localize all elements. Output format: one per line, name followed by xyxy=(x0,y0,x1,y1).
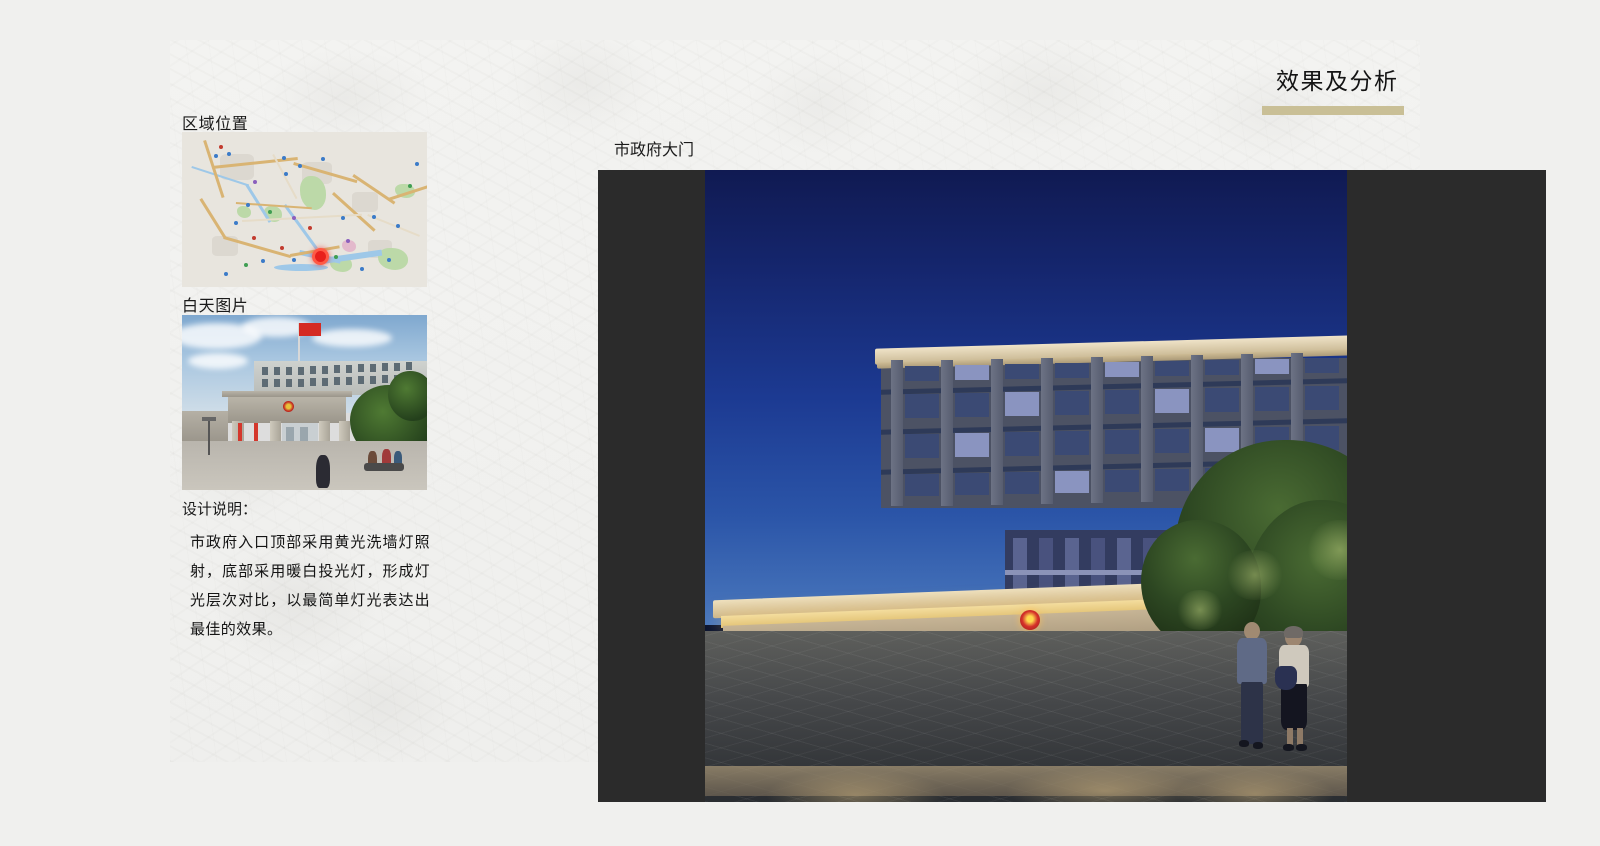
map-label: 区域位置 xyxy=(182,110,248,134)
render-frame[interactable]: 北流市国防动员委员会 北流市人民政府 常务委员会 xyxy=(598,170,1546,802)
design-note-body: 市政府入口顶部采用黄光洗墙灯照射，底部采用暖白投光灯，形成灯光层次对比，以最简单… xyxy=(190,528,430,644)
title-accent-rule xyxy=(1262,106,1404,115)
daytime-photo-label: 白天图片 xyxy=(182,292,248,316)
pedestrian-woman xyxy=(1277,628,1311,752)
national-emblem xyxy=(1020,610,1040,630)
design-note-title: 设计说明： xyxy=(182,498,257,519)
slide-header: 效果及分析 xyxy=(1262,62,1404,115)
render-caption: 市政府大门 xyxy=(614,136,694,160)
night-render-image[interactable]: 北流市国防动员委员会 北流市人民政府 常务委员会 xyxy=(705,170,1347,802)
slide-sheet: 效果及分析 区域位置 xyxy=(170,40,1420,762)
map-canvas xyxy=(182,132,427,287)
photo-flag xyxy=(299,323,321,336)
pedestrian-man xyxy=(1235,622,1269,750)
daytime-photo[interactable] xyxy=(182,315,427,490)
handbag xyxy=(1275,666,1297,690)
slide-root: 效果及分析 区域位置 xyxy=(0,0,1600,846)
region-location-map[interactable] xyxy=(182,132,427,287)
map-location-marker xyxy=(312,248,329,265)
photo-emblem xyxy=(283,401,294,412)
page-title: 效果及分析 xyxy=(1262,62,1404,96)
